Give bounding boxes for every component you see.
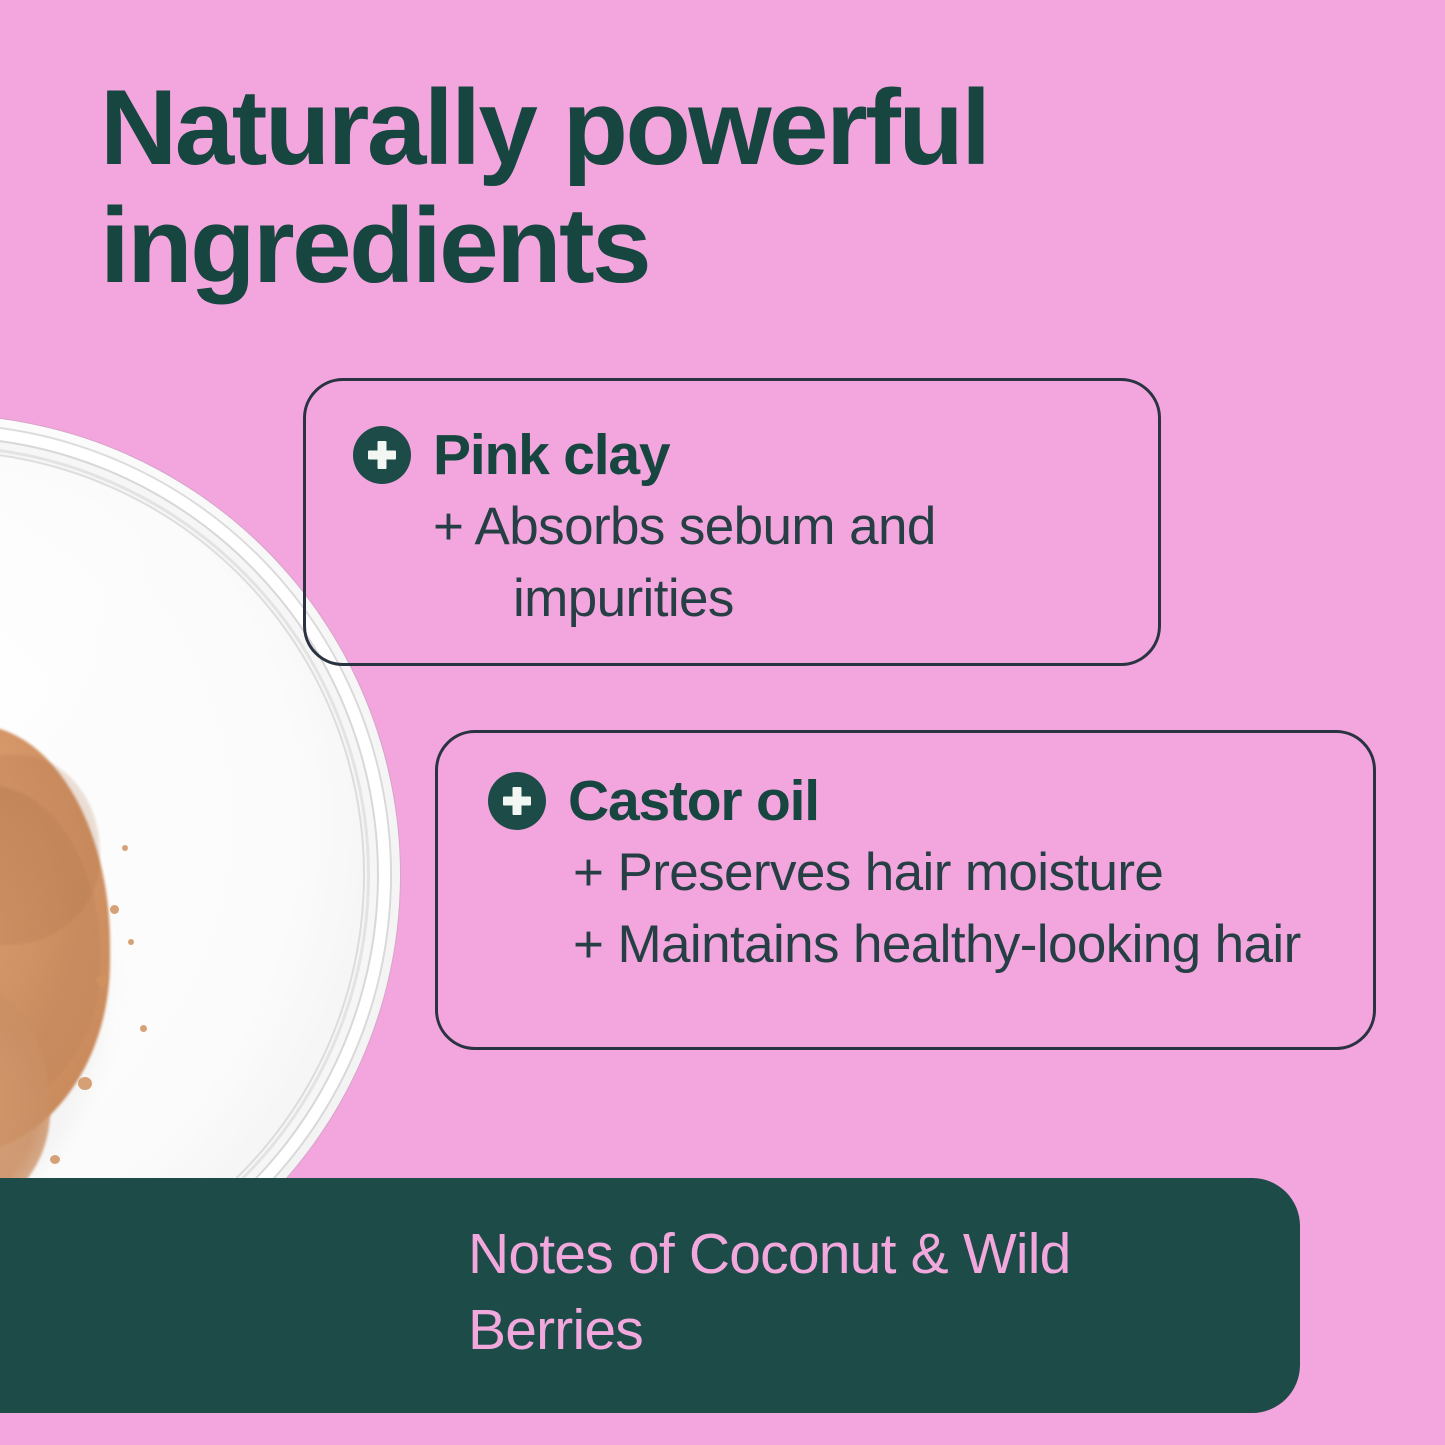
powder-shadow — [0, 745, 110, 1215]
powder-layer-4 — [0, 755, 100, 945]
card-content: Pink clay + Absorbs sebum and impurities — [353, 425, 1053, 635]
card-header: Pink clay — [353, 425, 1053, 485]
scent-notes-banner: Notes of Coconut & Wild Berries — [0, 1178, 1300, 1413]
benefit-item: + Preserves hair moisture — [573, 837, 1363, 909]
powder-speck — [110, 905, 119, 914]
powder-speck — [140, 1025, 147, 1032]
scent-notes-text: Notes of Coconut & Wild Berries — [468, 1216, 1228, 1368]
page-title: Naturally powerful ingredients — [100, 68, 1230, 304]
powder-speck — [78, 1077, 92, 1090]
ingredient-name: Castor oil — [568, 771, 819, 831]
powder-speck — [128, 939, 134, 945]
petri-dish-highlight — [0, 455, 240, 955]
powder-speck — [96, 975, 108, 986]
powder-speck — [50, 1155, 60, 1164]
powder-layer-2 — [0, 785, 100, 1115]
ingredient-benefits: + Absorbs sebum and impurities — [433, 491, 1153, 635]
ingredient-name: Pink clay — [433, 425, 669, 485]
benefit-item: + Maintains healthy-looking hair — [573, 909, 1363, 981]
product-ingredients-infographic: Naturally powerful ingredients Pink clay… — [0, 0, 1445, 1445]
ingredient-card-pink-clay: Pink clay + Absorbs sebum and impurities — [303, 378, 1161, 666]
card-header: Castor oil — [488, 771, 1318, 831]
powder-speck — [122, 845, 128, 851]
ingredient-benefits: + Preserves hair moisture + Maintains he… — [573, 837, 1363, 981]
clay-powder-mound — [0, 725, 170, 1245]
plus-icon — [353, 426, 411, 484]
plus-icon — [488, 772, 546, 830]
powder-layer-1 — [0, 725, 110, 1155]
benefit-item: + Absorbs sebum and impurities — [513, 491, 1153, 635]
ingredient-card-castor-oil: Castor oil + Preserves hair moisture + M… — [435, 730, 1376, 1050]
card-content: Castor oil + Preserves hair moisture + M… — [488, 771, 1318, 981]
